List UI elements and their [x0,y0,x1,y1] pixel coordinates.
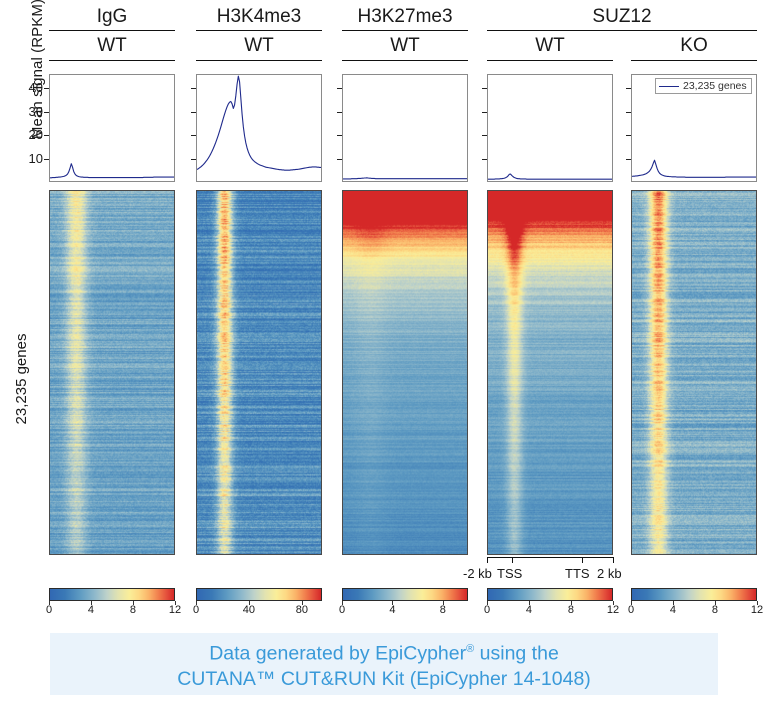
group-header-suz12: SUZ12 [487,6,757,32]
y-tick-mark [482,112,487,113]
y-tick-mark [337,112,342,113]
colorbar-tick-label-8: 8 [130,604,136,616]
profile-plot-h3k27me3-wt [342,74,468,182]
y-tick-mark [44,159,49,160]
group-header-label: IgG [49,6,175,28]
heatmap-igg-wt [49,190,175,555]
group-header-rule [196,30,322,31]
group-header-label: SUZ12 [487,6,757,28]
condition-header-label: KO [631,35,757,57]
y-tick-mark [482,135,487,136]
condition-header-suz12-wt: WT [487,35,613,61]
colorbar-h3k4me3-wt [196,588,322,601]
colorbar-tick-label-0: 0 [193,604,199,616]
y-tick-mark [626,88,631,89]
y-tick-mark [337,135,342,136]
x-tick-mark [582,557,583,563]
legend-label: 23,235 genes [683,80,747,92]
attribution-banner: Data generated by EpiCypher® using the C… [50,633,718,695]
colorbar-igg-wt [49,588,175,601]
condition-header-rule [342,60,468,61]
group-header-label: H3K4me3 [196,6,322,28]
group-header-igg: IgG [49,6,175,32]
heatmap-canvas [488,191,612,554]
heatmap-h3k27me3-wt [342,190,468,555]
y-tick-mark [191,135,196,136]
y-tick-label-20: 20 [17,127,43,142]
condition-header-label: WT [49,35,175,57]
group-header-h3k4me3: H3K4me3 [196,6,322,32]
x-tick-mark [487,557,488,563]
banner-line1-text-b: using the [474,642,559,664]
colorbar-tick-label-0: 0 [484,604,490,616]
group-header-h3k27me3: H3K27me3 [342,6,468,32]
heatmap-suz12-ko [631,190,757,555]
heatmap-suz12-wt [487,190,613,555]
y-tick-mark [337,159,342,160]
colorbar-h3k27me3-wt [342,588,468,601]
condition-header-rule [49,60,175,61]
y-tick-mark [191,159,196,160]
colorbar-tick-label-4: 4 [670,604,676,616]
condition-header-igg-wt: WT [49,35,175,61]
y-tick-mark [191,88,196,89]
group-header-label: H3K27me3 [342,6,468,28]
x-tick-label--2-kb: -2 kb [463,566,492,581]
x-axis-ticks-suz12-wt [487,557,613,565]
group-header-rule [342,30,468,31]
condition-header-rule [487,60,613,61]
y-tick-mark [44,112,49,113]
y-tick-mark [626,112,631,113]
profile-plot-suz12-wt [487,74,613,182]
y-tick-mark [191,112,196,113]
legend-line-icon [659,86,679,87]
condition-header-h3k4me3-wt: WT [196,35,322,61]
banner-line-2: CUTANA™ CUT&RUN Kit (EpiCypher 14-1048) [177,666,591,692]
y-tick-mark [44,88,49,89]
colorbar-tick-label-4: 4 [526,604,532,616]
colorbar-tick-label-0: 0 [46,604,52,616]
group-header-rule [49,30,175,31]
colorbar-tick-label-12: 12 [751,604,763,616]
profile-plot-h3k4me3-wt [196,74,322,182]
colorbar-tick-label-8: 8 [712,604,718,616]
y-tick-mark [337,88,342,89]
colorbar-tick-label-4: 4 [389,604,395,616]
colorbar-tick-label-0: 0 [628,604,634,616]
x-tick-mark [512,557,513,563]
y-tick-mark [626,159,631,160]
row-axis-label-genes: 23,235 genes [13,319,31,439]
legend: 23,235 genes [655,78,752,94]
colorbar-tick-label-12: 12 [169,604,181,616]
y-tick-label-30: 30 [17,104,43,119]
colorbar-suz12-wt [487,588,613,601]
x-tick-label-TTS: TTS [565,566,590,581]
condition-header-label: WT [487,35,613,57]
heatmap-canvas [343,191,467,554]
colorbar-tick-label-8: 8 [440,604,446,616]
banner-line1-text-a: Data generated by EpiCypher [209,642,466,664]
condition-header-suz12-ko: KO [631,35,757,61]
condition-header-h3k27me3-wt: WT [342,35,468,61]
banner-line-1: Data generated by EpiCypher® using the [209,636,559,667]
condition-header-rule [196,60,322,61]
heatmap-canvas [50,191,174,554]
y-tick-mark [626,135,631,136]
x-tick-label-TSS: TSS [497,566,522,581]
x-tick-mark [613,557,614,563]
y-tick-label-10: 10 [17,151,43,166]
colorbar-tick-label-8: 8 [568,604,574,616]
y-tick-mark [482,88,487,89]
colorbar-tick-label-4: 4 [88,604,94,616]
condition-header-label: WT [342,35,468,57]
x-tick-label-2-kb: 2 kb [597,566,622,581]
colorbar-tick-label-80: 80 [296,604,308,616]
y-tick-mark [44,135,49,136]
y-tick-label-40: 40 [17,80,43,95]
condition-header-rule [631,60,757,61]
figure-root: Mean signal (RPKM) 23,235 genes IgGH3K4m… [0,0,768,703]
group-header-rule [487,30,757,31]
heatmap-canvas [197,191,321,554]
heatmap-h3k4me3-wt [196,190,322,555]
heatmap-canvas [632,191,756,554]
colorbar-suz12-ko [631,588,757,601]
colorbar-tick-label-40: 40 [243,604,255,616]
x-axis-rule [487,557,613,558]
profile-plot-igg-wt [49,74,175,182]
y-tick-mark [482,159,487,160]
condition-header-label: WT [196,35,322,57]
colorbar-tick-label-0: 0 [339,604,345,616]
colorbar-tick-label-12: 12 [607,604,619,616]
